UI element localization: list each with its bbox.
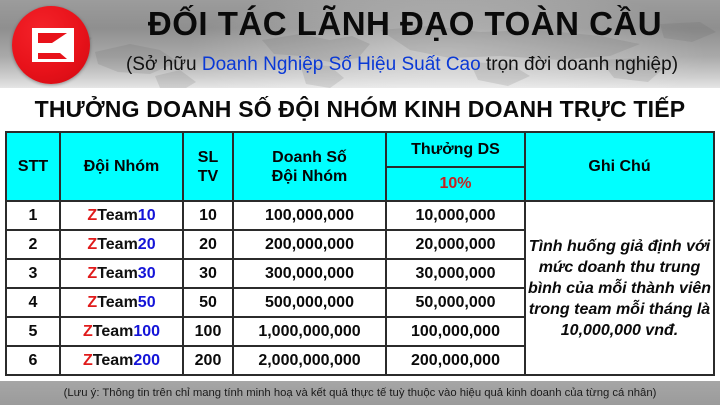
cell-reward: 50,000,000 <box>386 288 525 317</box>
table-head: STT Đội Nhóm SL TV Doanh Số Đội Nhóm Thư… <box>6 132 714 201</box>
table-row: 1ZTeam1010100,000,00010,000,000Tình huốn… <box>6 201 714 230</box>
bonus-table: STT Đội Nhóm SL TV Doanh Số Đội Nhóm Thư… <box>5 131 715 376</box>
page-subtitle: (Sở hữu Doanh Nghiệp Số Hiệu Suất Cao tr… <box>86 50 718 80</box>
cell-team-name: ZTeam30 <box>60 259 183 288</box>
col-header-stt: STT <box>6 132 60 201</box>
team-word: Team <box>97 236 138 253</box>
cell-member-count: 200 <box>183 346 233 375</box>
cell-reward: 10,000,000 <box>386 201 525 230</box>
bonus-header-title: Thưởng DS <box>387 133 524 168</box>
cell-stt: 2 <box>6 230 60 259</box>
logo-z-glyph <box>12 6 90 84</box>
cell-revenue: 2,000,000,000 <box>233 346 386 375</box>
col-header-sl-tv: SL TV <box>183 132 233 201</box>
sl-line1: SL <box>198 149 218 166</box>
cell-stt: 1 <box>6 201 60 230</box>
team-word: Team <box>93 352 134 369</box>
team-word: Team <box>97 207 138 224</box>
cell-note: Tình huống giả định với mức doanh thu tr… <box>525 201 714 375</box>
header-banner: ĐỐI TÁC LÃNH ĐẠO TOÀN CẦU (Sở hữu Doanh … <box>0 0 720 88</box>
cell-member-count: 50 <box>183 288 233 317</box>
col-header-team: Đội Nhóm <box>60 132 183 201</box>
subtitle-prefix: (Sở hữu <box>126 54 202 75</box>
cell-revenue: 100,000,000 <box>233 201 386 230</box>
cell-reward: 20,000,000 <box>386 230 525 259</box>
disclaimer-bar: (Lưu ý: Thông tin trên chỉ mang tính min… <box>0 381 720 405</box>
table-header-row: STT Đội Nhóm SL TV Doanh Số Đội Nhóm Thư… <box>6 132 714 201</box>
bonus-table-wrap: STT Đội Nhóm SL TV Doanh Số Đội Nhóm Thư… <box>5 131 715 376</box>
cell-member-count: 30 <box>183 259 233 288</box>
cell-revenue: 300,000,000 <box>233 259 386 288</box>
subtitle-highlight: Doanh Nghiệp Số Hiệu Suất Cao <box>202 54 481 75</box>
cell-member-count: 20 <box>183 230 233 259</box>
team-word: Team <box>97 294 138 311</box>
col-header-note: Ghi Chú <box>525 132 714 201</box>
bonus-header-stack: Thưởng DS 10% <box>387 133 524 200</box>
cell-team-name: ZTeam10 <box>60 201 183 230</box>
cell-stt: 6 <box>6 346 60 375</box>
cell-revenue: 500,000,000 <box>233 288 386 317</box>
bonus-header-percent: 10% <box>387 168 524 201</box>
cell-revenue: 1,000,000,000 <box>233 317 386 346</box>
revenue-line1: Doanh Số <box>272 149 347 166</box>
team-prefix: Z <box>87 207 97 224</box>
cell-reward: 100,000,000 <box>386 317 525 346</box>
page-title: ĐỐI TÁC LÃNH ĐẠO TOÀN CẦU <box>92 2 718 46</box>
cell-team-name: ZTeam50 <box>60 288 183 317</box>
cell-stt: 4 <box>6 288 60 317</box>
cell-stt: 5 <box>6 317 60 346</box>
team-prefix: Z <box>87 294 97 311</box>
z-logo-icon <box>12 6 90 84</box>
team-prefix: Z <box>83 352 93 369</box>
team-prefix: Z <box>87 265 97 282</box>
cell-member-count: 10 <box>183 201 233 230</box>
team-size: 100 <box>133 323 160 340</box>
col-header-revenue: Doanh Số Đội Nhóm <box>233 132 386 201</box>
team-prefix: Z <box>87 236 97 253</box>
table-title: THƯỞNG DOANH SỐ ĐỘI NHÓM KINH DOANH TRỰC… <box>0 88 720 130</box>
team-word: Team <box>93 323 134 340</box>
cell-member-count: 100 <box>183 317 233 346</box>
cell-stt: 3 <box>6 259 60 288</box>
cell-team-name: ZTeam100 <box>60 317 183 346</box>
revenue-line2: Đội Nhóm <box>272 168 348 185</box>
cell-reward: 200,000,000 <box>386 346 525 375</box>
team-size: 30 <box>138 265 156 282</box>
col-header-bonus: Thưởng DS 10% <box>386 132 525 201</box>
cell-team-name: ZTeam20 <box>60 230 183 259</box>
team-word: Team <box>97 265 138 282</box>
subtitle-suffix: trọn đời doanh nghiệp) <box>481 54 678 75</box>
table-body: 1ZTeam1010100,000,00010,000,000Tình huốn… <box>6 201 714 375</box>
team-size: 50 <box>138 294 156 311</box>
team-size: 200 <box>133 352 160 369</box>
team-size: 10 <box>138 207 156 224</box>
cell-reward: 30,000,000 <box>386 259 525 288</box>
cell-team-name: ZTeam200 <box>60 346 183 375</box>
team-size: 20 <box>138 236 156 253</box>
promo-page: ĐỐI TÁC LÃNH ĐẠO TOÀN CẦU (Sở hữu Doanh … <box>0 0 720 405</box>
sl-line2: TV <box>198 168 218 185</box>
cell-revenue: 200,000,000 <box>233 230 386 259</box>
team-prefix: Z <box>83 323 93 340</box>
